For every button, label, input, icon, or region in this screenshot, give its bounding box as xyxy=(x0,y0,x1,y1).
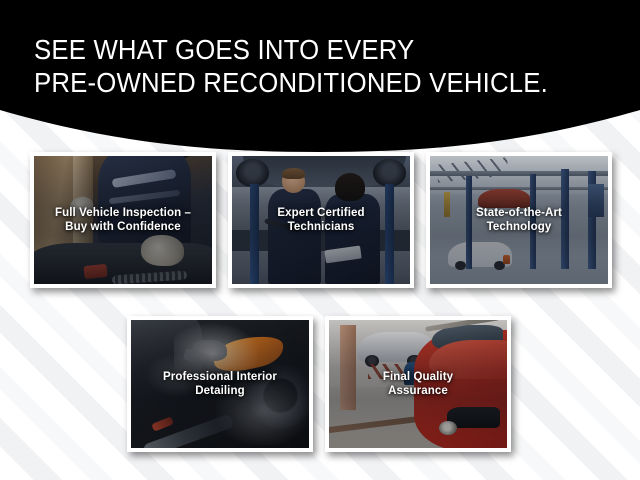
slide-canvas: SEE WHAT GOES INTO EVERY PRE-OWNED RECON… xyxy=(0,0,640,480)
card-photo: Expert Certified Technicians xyxy=(232,156,410,284)
page-title: SEE WHAT GOES INTO EVERY PRE-OWNED RECON… xyxy=(34,33,568,99)
card-photo: State-of-the-Art Technology xyxy=(430,156,608,284)
card-photo: Full Vehicle Inspection – Buy with Confi… xyxy=(34,156,212,284)
header-banner: SEE WHAT GOES INTO EVERY PRE-OWNED RECON… xyxy=(0,0,640,155)
card-label-state-of-the-art-technology: State-of-the-Art Technology xyxy=(434,206,604,234)
card-label-full-vehicle-inspection: Full Vehicle Inspection – Buy with Confi… xyxy=(38,206,208,234)
card-label-final-quality-assurance: Final Quality Assurance xyxy=(333,370,503,398)
card-photo: Professional Interior Detailing xyxy=(131,320,309,448)
feature-card-professional-interior-detailing[interactable]: Professional Interior Detailing xyxy=(127,316,313,452)
card-label-expert-certified-technicians: Expert Certified Technicians xyxy=(236,206,406,234)
card-label-professional-interior-detailing: Professional Interior Detailing xyxy=(135,370,305,398)
feature-card-expert-certified-technicians[interactable]: Expert Certified Technicians xyxy=(228,152,414,288)
feature-card-full-vehicle-inspection[interactable]: Full Vehicle Inspection – Buy with Confi… xyxy=(30,152,216,288)
feature-card-final-quality-assurance[interactable]: Final Quality Assurance xyxy=(325,316,511,452)
card-photo: Final Quality Assurance xyxy=(329,320,507,448)
feature-card-state-of-the-art-technology[interactable]: State-of-the-Art Technology xyxy=(426,152,612,288)
